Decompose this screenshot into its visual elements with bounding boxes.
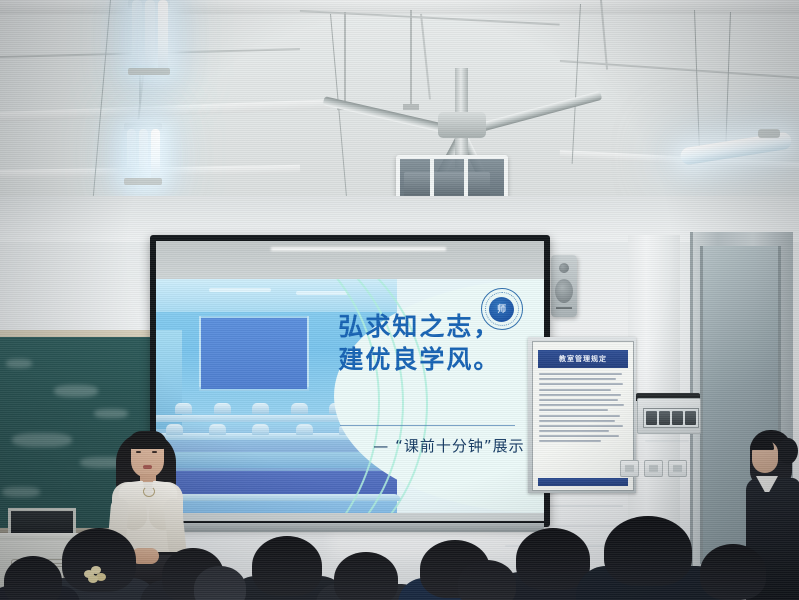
control-key-2[interactable] bbox=[659, 411, 670, 425]
presenter-eye-left bbox=[136, 451, 141, 453]
control-key-4[interactable] bbox=[685, 411, 696, 425]
ceiling-beam-top bbox=[0, 0, 799, 14]
presenter-necklace bbox=[143, 486, 155, 497]
fluorescent-tube-left-upper-b bbox=[145, 0, 155, 72]
audience-head-3 bbox=[252, 536, 322, 596]
fan-motor-housing bbox=[438, 112, 486, 138]
chalk-smudge-6 bbox=[94, 409, 128, 418]
slide-subtitle: — “课前十分钟”展示 bbox=[373, 435, 524, 456]
hanger-rod-3 bbox=[344, 12, 346, 108]
presenter-mouth bbox=[143, 465, 152, 469]
hanger-rod-4 bbox=[410, 10, 412, 106]
poster-heading: 教室管理规定 bbox=[538, 350, 628, 368]
fluorescent-tube-left-lower-b bbox=[139, 129, 148, 181]
fluorescent-tube-left-lower-c bbox=[151, 129, 160, 181]
light-cap-left-lower-bottom bbox=[124, 178, 162, 185]
presenter-eye-right bbox=[152, 451, 157, 453]
fluorescent-tube-left-upper-a bbox=[132, 0, 142, 72]
control-key-3[interactable] bbox=[672, 411, 683, 425]
fluorescent-tube-left-upper-c bbox=[158, 0, 168, 72]
chalk-smudge-1 bbox=[6, 359, 32, 368]
light-cap-right bbox=[758, 129, 780, 138]
audience-head-7 bbox=[604, 516, 692, 586]
power-outlet-1[interactable] bbox=[620, 460, 639, 477]
chalk-smudge-5 bbox=[2, 487, 40, 497]
light-cap-left-upper-bottom bbox=[128, 68, 170, 75]
power-outlet-2[interactable] bbox=[644, 460, 663, 477]
wall-poster: 教室管理规定 bbox=[532, 341, 634, 491]
chalk-smudge-3 bbox=[12, 433, 72, 447]
screen-surface: 师 弘求知之志， 建优良学风。 — “课前十分钟”展示 bbox=[156, 241, 544, 521]
projection-screen[interactable]: 师 弘求知之志， 建优良学风。 — “课前十分钟”展示 bbox=[150, 235, 550, 527]
audience-head-8 bbox=[4, 556, 62, 600]
wall-mark-4 bbox=[645, 440, 689, 442]
screen-glare bbox=[271, 247, 446, 251]
wall-speaker bbox=[551, 255, 577, 317]
power-outlet-3[interactable] bbox=[668, 460, 687, 477]
audience-head-11 bbox=[700, 544, 766, 600]
chalk-smudge-2 bbox=[54, 385, 98, 397]
slide-divider bbox=[340, 425, 515, 426]
control-key-1[interactable] bbox=[646, 411, 657, 425]
screen-bottom-tray bbox=[156, 523, 544, 532]
poster-text-lines bbox=[539, 373, 627, 476]
slide-title: 弘求知之志， 建优良学风。 bbox=[338, 310, 500, 376]
speaker-tweeter bbox=[559, 263, 569, 273]
poster-footer-bar bbox=[538, 478, 628, 486]
hair-clip-flower bbox=[84, 566, 106, 584]
control-panel-keys[interactable] bbox=[643, 408, 699, 428]
speaker-woofer bbox=[555, 279, 573, 303]
audience-head-10 bbox=[458, 560, 516, 600]
standing-student-ponytail bbox=[778, 438, 798, 464]
audience-head-4 bbox=[334, 552, 398, 600]
presentation-slide: 师 弘求知之志， 建优良学风。 — “课前十分钟”展示 bbox=[156, 279, 544, 513]
classroom-photo-scene: 师 弘求知之志， 建优良学风。 — “课前十分钟”展示 教室管理规定 bbox=[0, 0, 799, 600]
speaker-grill bbox=[556, 307, 572, 309]
hanger-plate-4 bbox=[403, 104, 419, 110]
fluorescent-tube-left-lower-a bbox=[127, 129, 136, 181]
presenter-hair-front bbox=[128, 431, 167, 449]
